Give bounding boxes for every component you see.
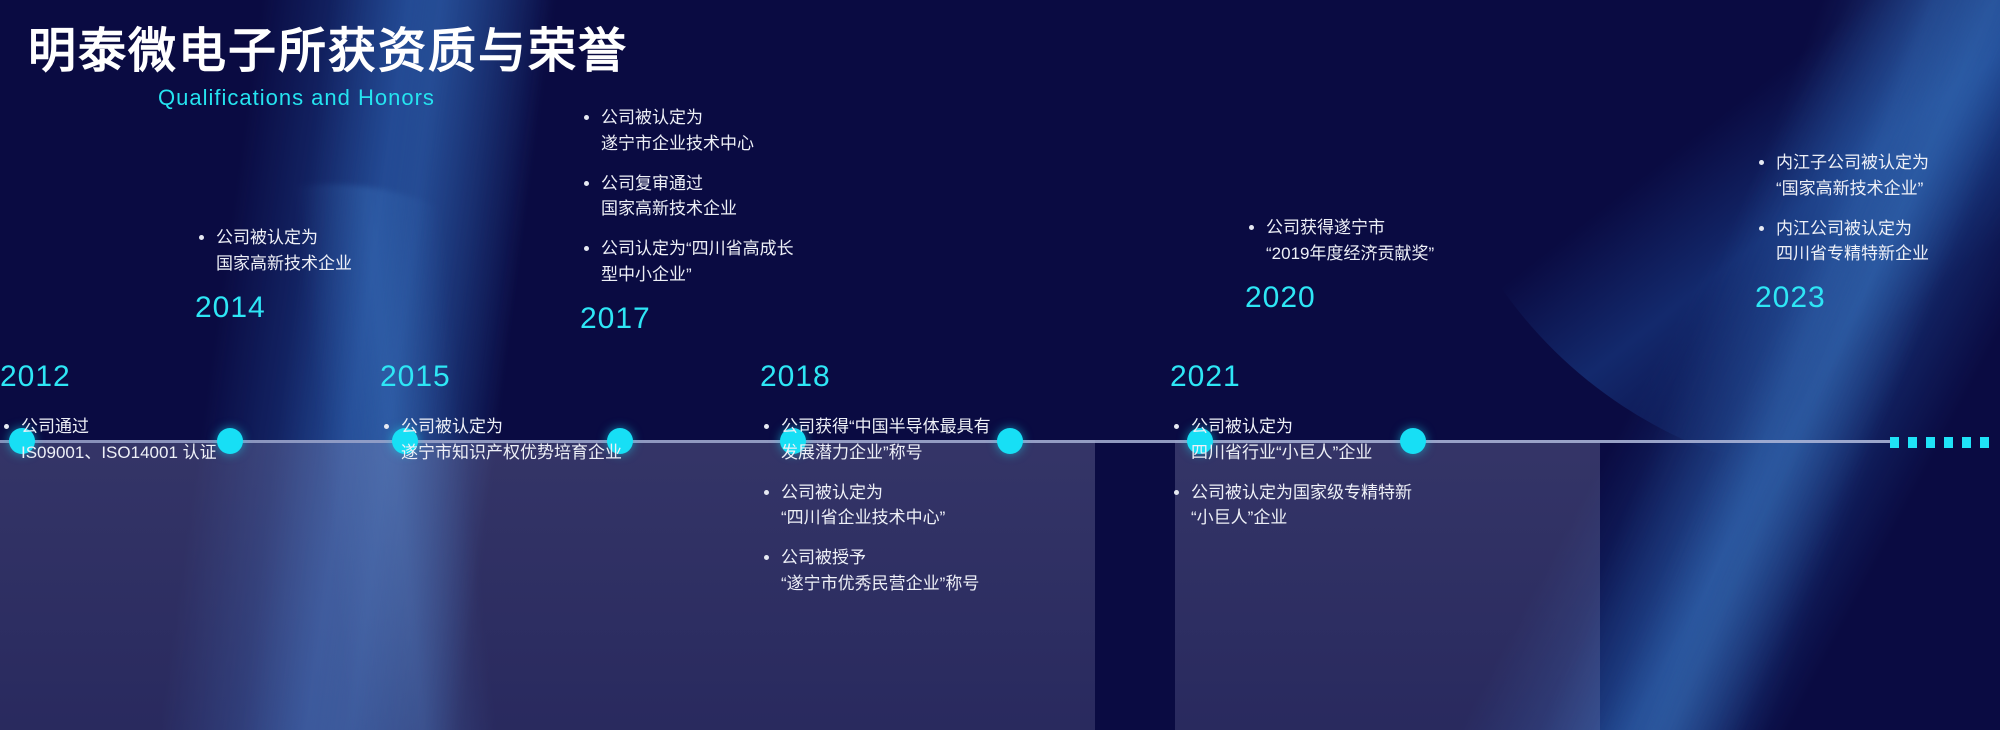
milestone-bullet: 公司被认定为 四川省行业“小巨人”企业 [1170, 414, 1500, 466]
axis-dash [1890, 437, 1899, 448]
milestone-bullet: 内江子公司被认定为 “国家高新技术企业” [1755, 150, 2000, 202]
milestone-bullet: 公司被认定为 遂宁市知识产权优势培育企业 [380, 414, 710, 466]
milestone-year-2023[interactable]: 2023 [1755, 283, 2000, 313]
milestone-year-2020[interactable]: 2020 [1245, 283, 1575, 313]
milestone-bullet-list-2018: 公司获得“中国半导体最具有 发展潜力企业”称号公司被认定为 “四川省企业技术中心… [760, 414, 1060, 597]
milestone-bullet: 公司被认定为 “四川省企业技术中心” [760, 480, 1060, 532]
milestone-bullet: 内江公司被认定为 四川省专精特新企业 [1755, 216, 2000, 268]
axis-dash [1908, 437, 1917, 448]
timeline-axis-dashes [1890, 437, 2000, 447]
axis-dash [1926, 437, 1935, 448]
milestone-bullet-list-2023: 内江子公司被认定为 “国家高新技术企业”内江公司被认定为 四川省专精特新企业 [1755, 150, 2000, 267]
milestone-block-2015: 2015公司被认定为 遂宁市知识产权优势培育企业 [380, 362, 710, 466]
milestone-block-2023: 内江子公司被认定为 “国家高新技术企业”内江公司被认定为 四川省专精特新企业20… [1755, 150, 2000, 313]
milestone-block-2018: 2018公司获得“中国半导体最具有 发展潜力企业”称号公司被认定为 “四川省企业… [760, 362, 1060, 597]
milestone-bullet: 公司被认定为 国家高新技术企业 [195, 225, 525, 277]
page-title: 明泰微电子所获资质与荣誉 [28, 26, 628, 79]
milestone-year-2017[interactable]: 2017 [580, 304, 880, 334]
milestone-year-2012[interactable]: 2012 [0, 362, 330, 392]
milestone-panel-2012 [0, 440, 380, 730]
milestone-bullet-list-2021: 公司被认定为 四川省行业“小巨人”企业公司被认定为国家级专精特新 “小巨人”企业 [1170, 414, 1500, 531]
milestone-bullet: 公司被授予 “遂宁市优秀民营企业”称号 [760, 545, 1060, 597]
header: 明泰微电子所获资质与荣誉 Qualifications and Honors [28, 26, 628, 111]
milestone-panel-2015 [380, 440, 765, 730]
milestone-bullet: 公司认定为“四川省高成长 型中小企业” [580, 236, 880, 288]
axis-dash [1980, 437, 1989, 448]
milestone-block-2020: 公司获得遂宁市 “2019年度经济贡献奖”2020 [1245, 215, 1575, 313]
milestone-year-2018[interactable]: 2018 [760, 362, 1060, 392]
milestone-bullet: 公司被认定为 遂宁市企业技术中心 [580, 105, 880, 157]
milestone-bullet: 公司获得遂宁市 “2019年度经济贡献奖” [1245, 215, 1575, 267]
milestone-bullet: 公司获得“中国半导体最具有 发展潜力企业”称号 [760, 414, 1060, 466]
milestone-bullet-list-2017: 公司被认定为 遂宁市企业技术中心公司复审通过 国家高新技术企业公司认定为“四川省… [580, 105, 880, 288]
milestone-bullet-list-2015: 公司被认定为 遂宁市知识产权优势培育企业 [380, 414, 710, 466]
milestone-block-2014: 公司被认定为 国家高新技术企业2014 [195, 225, 525, 323]
milestone-year-2015[interactable]: 2015 [380, 362, 710, 392]
page-subtitle: Qualifications and Honors [158, 85, 628, 111]
milestone-bullet-list-2020: 公司获得遂宁市 “2019年度经济贡献奖” [1245, 215, 1575, 267]
milestone-bullet-list-2014: 公司被认定为 国家高新技术企业 [195, 225, 525, 277]
milestone-year-2021[interactable]: 2021 [1170, 362, 1500, 392]
milestone-bullet: 公司通过 IS09001、ISO14001 认证 [0, 414, 330, 466]
axis-dash [1962, 437, 1971, 448]
milestone-block-2012: 2012公司通过 IS09001、ISO14001 认证 [0, 362, 330, 466]
milestone-block-2017: 公司被认定为 遂宁市企业技术中心公司复审通过 国家高新技术企业公司认定为“四川省… [580, 105, 880, 334]
milestone-block-2021: 2021公司被认定为 四川省行业“小巨人”企业公司被认定为国家级专精特新 “小巨… [1170, 362, 1500, 531]
milestone-year-2014[interactable]: 2014 [195, 293, 525, 323]
milestone-bullet: 公司复审通过 国家高新技术企业 [580, 171, 880, 223]
timeline-infographic: 明泰微电子所获资质与荣誉 Qualifications and Honors 2… [0, 0, 2000, 730]
milestone-bullet-list-2012: 公司通过 IS09001、ISO14001 认证 [0, 414, 330, 466]
axis-dash [1944, 437, 1953, 448]
milestone-bullet: 公司被认定为国家级专精特新 “小巨人”企业 [1170, 480, 1500, 532]
